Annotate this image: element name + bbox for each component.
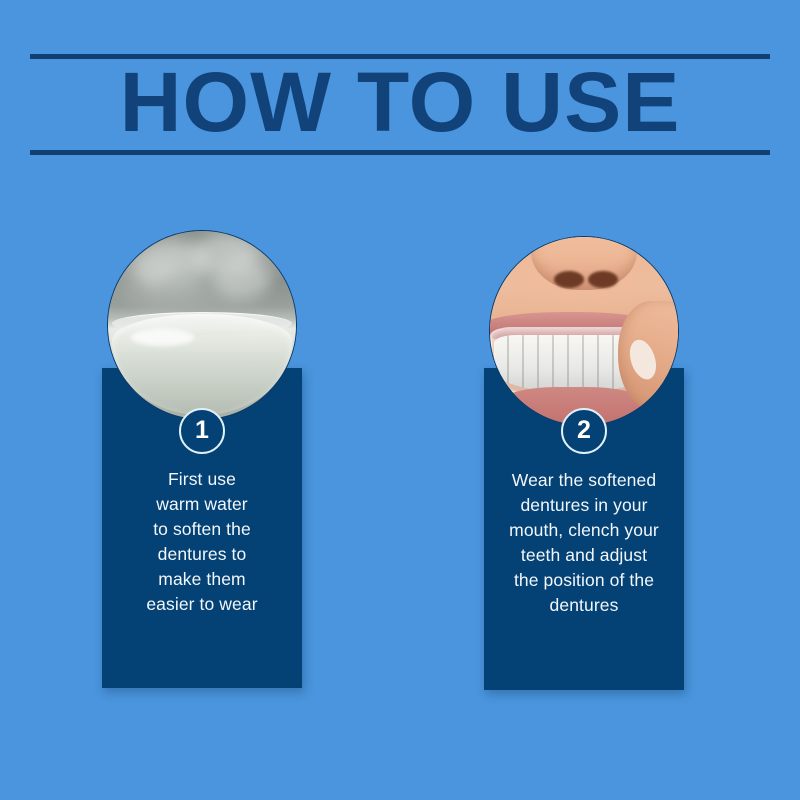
nose xyxy=(531,236,636,290)
mouth-denture-image xyxy=(490,237,678,425)
title-rule-bottom xyxy=(30,150,770,155)
instruction-line: First use xyxy=(110,467,294,492)
steam-wisp-icon xyxy=(213,261,269,299)
page-title: HOW TO USE xyxy=(0,52,800,152)
instruction-line: teeth and adjust xyxy=(492,543,676,568)
instruction-line: the position of the xyxy=(492,568,676,593)
warm-water-image xyxy=(108,231,296,419)
instruction-line: Wear the softened xyxy=(492,468,676,493)
instruction-line: make them xyxy=(110,567,294,592)
instruction-line: dentures xyxy=(492,593,676,618)
instruction-line: dentures to xyxy=(110,542,294,567)
nostril xyxy=(554,271,584,288)
step-number-badge-2: 2 xyxy=(561,408,607,454)
step-2-photo-wearing-dentures xyxy=(489,236,679,426)
instruction-line: warm water xyxy=(110,492,294,517)
instruction-line: easier to wear xyxy=(110,592,294,617)
step-2-instructions: Wear the softened dentures in your mouth… xyxy=(492,468,676,618)
nostril xyxy=(588,271,618,288)
instruction-line: dentures in your xyxy=(492,493,676,518)
instruction-line: mouth, clench your xyxy=(492,518,676,543)
step-1-photo-warm-water xyxy=(107,230,297,420)
how-to-use-poster: HOW TO USE 1 First use warm water to sof… xyxy=(0,0,800,800)
step-1-instructions: First use warm water to soften the dentu… xyxy=(110,467,294,617)
step-number-badge-1: 1 xyxy=(179,408,225,454)
poster-header: HOW TO USE xyxy=(0,0,800,200)
instruction-line: to soften the xyxy=(110,517,294,542)
glass-bowl-highlight xyxy=(131,329,195,346)
